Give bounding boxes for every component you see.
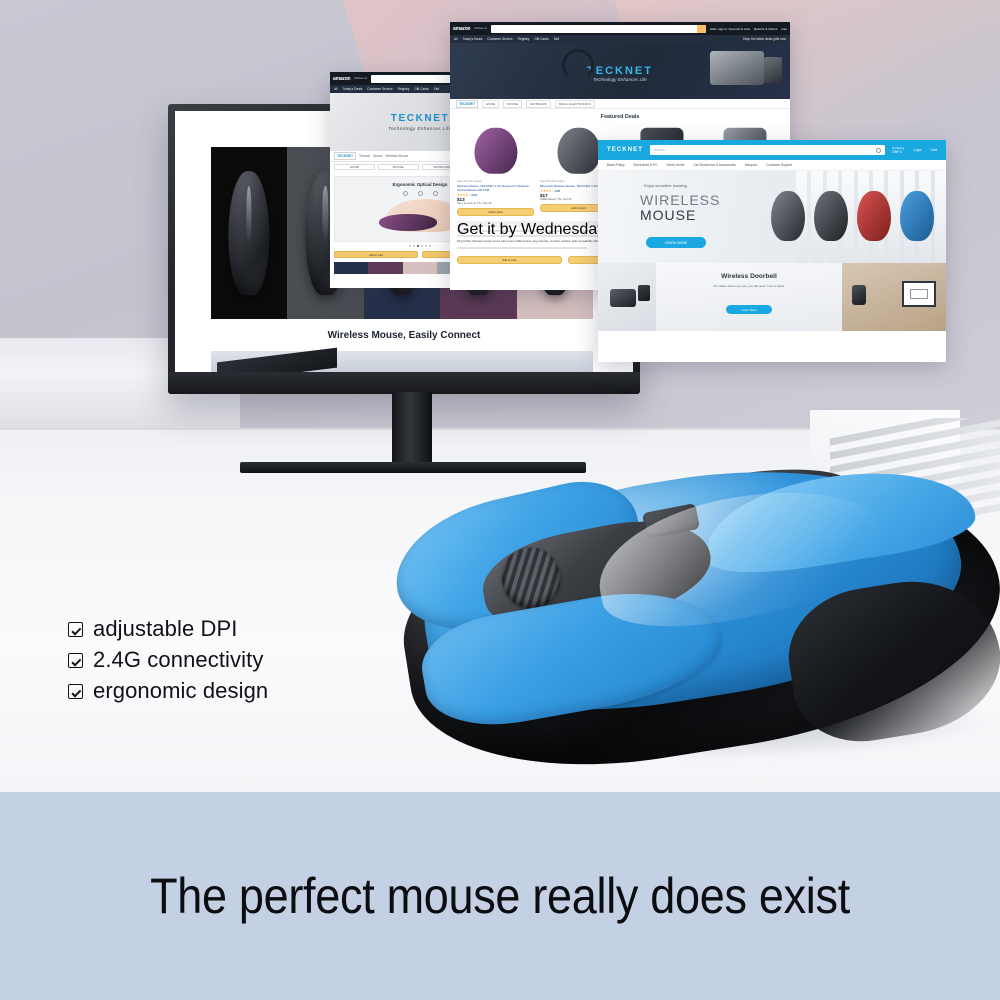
carousel-dot[interactable]: [413, 245, 415, 247]
hero-headline: WIRELESS MOUSE: [640, 193, 720, 222]
doorbell-title: Wireless Doorbell: [656, 273, 842, 280]
feature-label: adjustable DPI: [93, 616, 238, 642]
shipping-info: Get it as soon as Thu, Nov 25: [457, 202, 534, 205]
product-scene: Blue Wireless Mouse, Easily Connect amaz…: [0, 0, 1000, 792]
currency-label: Currency: [892, 146, 904, 150]
wireless-mouse-product: [386, 452, 1000, 782]
mouse-variant-blue: [900, 191, 934, 241]
checkbox-checked-icon: [68, 653, 83, 668]
mouse-icon: [418, 191, 423, 196]
hero-banner: Enjoy smoother tracking WIRELESS MOUSE L…: [598, 171, 946, 263]
brand-badge[interactable]: TECKNET: [456, 100, 478, 108]
tab-home[interactable]: HOME: [334, 164, 375, 170]
breadcrumb-item[interactable]: Wireless Mouse: [386, 154, 409, 158]
hero-headline-line2: MOUSE: [640, 208, 720, 223]
nav-promo-text[interactable]: Shop the latest deals gifts now: [743, 37, 786, 41]
feature-list: adjustable DPI 2.4G connectivity ergonom…: [68, 616, 398, 709]
breadcrumb-item[interactable]: Tecknet: [359, 154, 370, 158]
mouse-variant-black: [814, 191, 848, 241]
feature-label: ergonomic design: [93, 678, 268, 704]
doorbell-learn-more-button[interactable]: Learn More: [726, 305, 772, 314]
mouse-variant-grey: [771, 191, 805, 241]
site-nav[interactable]: Black Friday Electronics & PC Smart Home…: [598, 160, 946, 171]
nav-item[interactable]: Gift Cards: [534, 37, 548, 41]
coupon-label: Save 5% with coupon: [457, 180, 534, 183]
tecknet-tagline: Technology Enhances Life: [388, 126, 451, 131]
tecknet-brand-hero: TECKNET Technology Enhances Life: [450, 43, 790, 99]
nav-item-customer-support[interactable]: Customer Support: [766, 163, 792, 167]
amazon-logo[interactable]: amazon: [453, 26, 470, 32]
currency-value: GBP £: [892, 150, 902, 154]
product-image[interactable]: [457, 122, 534, 180]
tagline-text: The perfect mouse really does exist: [150, 867, 850, 925]
hero-headline-line1: WIRELESS: [640, 192, 720, 208]
nav-item-marques[interactable]: Marques: [745, 163, 757, 167]
browser-window-tecknet-site[interactable]: TECKNET Search... Currency GBP £ Login C…: [598, 140, 946, 362]
subnav-item[interactable]: KEYBOARD: [526, 100, 551, 108]
carousel-dot-active[interactable]: [417, 245, 419, 247]
amazon-logo[interactable]: amazon: [333, 76, 350, 82]
review-count[interactable]: 8,641: [471, 193, 477, 197]
deliver-to-label[interactable]: Deliver to: [474, 27, 487, 30]
subnav-item[interactable]: SMALL ELECTRONICS: [555, 100, 595, 108]
returns-link[interactable]: Returns & Orders: [754, 27, 777, 31]
search-icon[interactable]: [876, 148, 881, 153]
nav-item[interactable]: All: [334, 87, 338, 91]
amazon-search-input[interactable]: [491, 25, 706, 33]
swatch-navy[interactable]: [334, 262, 368, 274]
add-to-cart-button[interactable]: Add to Cart: [334, 251, 418, 258]
carousel-dot[interactable]: [421, 245, 423, 247]
tecknet-logo[interactable]: TECKNET: [607, 147, 643, 153]
tagline-band: The perfect mouse really does exist: [0, 792, 1000, 1000]
nav-item[interactable]: Today's Deals: [343, 87, 363, 91]
doorbell-left-image: [598, 263, 656, 331]
amazon-nav-bar[interactable]: All Today's Deals Customer Service Regis…: [450, 35, 790, 43]
search-placeholder: Search...: [654, 148, 668, 152]
doorbell-camera: [638, 285, 650, 301]
checkbox-checked-icon: [68, 622, 83, 637]
brand-badge[interactable]: TECKNET: [334, 152, 356, 160]
site-header: TECKNET Search... Currency GBP £ Login C…: [598, 140, 946, 160]
subnav-item[interactable]: MOUSE: [503, 100, 522, 108]
login-link[interactable]: Login: [913, 148, 921, 152]
cart-icon[interactable]: Cart: [781, 27, 787, 31]
nav-item[interactable]: Sell: [554, 37, 559, 41]
nav-item-electronics-pc[interactable]: Electronics & PC: [634, 163, 658, 167]
doorbell-right-image: [842, 263, 946, 331]
swatch-blush[interactable]: [403, 262, 437, 274]
wall-frame: [902, 281, 936, 307]
nav-item[interactable]: Customer Service: [367, 87, 392, 91]
nav-item-car-electronics[interactable]: Car Electronics & Accessories: [693, 163, 736, 167]
nav-item-smart-home[interactable]: Smart Home: [666, 163, 684, 167]
review-count[interactable]: 3,645: [554, 189, 560, 193]
product-card[interactable]: Save 5% with coupon Wireless Mouse, TECK…: [457, 122, 534, 216]
nav-item-black-friday[interactable]: Black Friday: [607, 163, 625, 167]
featured-deals-title: Featured Deals: [450, 114, 790, 120]
hero-mouse-lineup: [771, 191, 934, 241]
currency-selector[interactable]: Currency GBP £: [892, 146, 904, 154]
feature-item-adjustable-dpi: adjustable DPI: [68, 616, 398, 642]
feature-label: 2.4G connectivity: [93, 647, 263, 673]
product-name[interactable]: Wireless Mouse, TECKNET 2.4G Ergonomic W…: [457, 184, 534, 192]
hero-kicker: Enjoy smoother tracking: [644, 183, 687, 188]
feature-item-connectivity: 2.4G connectivity: [68, 647, 398, 673]
nav-item[interactable]: All: [454, 37, 458, 41]
search-input[interactable]: Search...: [650, 145, 885, 155]
amazon-account-links[interactable]: Hello, sign in / Account & Lists Returns…: [710, 27, 787, 31]
doorbell-copy: Wireless Doorbell No matter where you ar…: [656, 263, 842, 331]
nav-item[interactable]: Registry: [398, 87, 410, 91]
amazon-top-bar: amazon Deliver to Hello, sign in / Accou…: [450, 22, 790, 35]
doorbell-device: [610, 289, 636, 307]
slide-mouse-image: [379, 214, 437, 231]
carousel-dot[interactable]: [429, 245, 431, 247]
doorbell-wall-unit: [852, 285, 866, 305]
feature-item-ergonomic-design: ergonomic design: [68, 678, 398, 704]
nav-item[interactable]: Sell: [434, 87, 439, 91]
monitor-chin: [168, 372, 640, 394]
account-link[interactable]: Hello, sign in / Account & Lists: [710, 27, 750, 31]
monitor-lower-banner: [211, 351, 593, 372]
hero-learn-more-button[interactable]: LEARN MORE: [646, 237, 706, 248]
nav-item[interactable]: Registry: [518, 37, 530, 41]
search-icon[interactable]: [697, 25, 706, 33]
swatch-plum[interactable]: [368, 262, 402, 274]
nav-item[interactable]: Today's Deals: [463, 37, 483, 41]
tecknet-tagline: Technology Enhances Life: [450, 77, 790, 82]
add-to-cart-button[interactable]: Add to Cart: [457, 256, 562, 264]
tab-mouse[interactable]: MOUSE: [378, 164, 419, 170]
product-meta: Save 5% with coupon Wireless Mouse, TECK…: [457, 180, 534, 205]
nav-item[interactable]: Gift Cards: [414, 87, 428, 91]
tecknet-logo: TECKNET: [587, 65, 653, 77]
wireless-icon: [433, 191, 438, 196]
store-subnav[interactable]: TECKNET HOME MOUSE KEYBOARD SMALL ELECTR…: [450, 99, 790, 109]
doorbell-subtitle: No matter where you are, you will never …: [656, 284, 842, 288]
breadcrumb-item[interactable]: Mouse: [373, 154, 383, 158]
doorbell-banner: Wireless Doorbell No matter where you ar…: [598, 263, 946, 331]
subnav-item[interactable]: HOME: [482, 100, 499, 108]
nav-item[interactable]: Customer Service: [487, 37, 512, 41]
mouse-variant-red: [857, 191, 891, 241]
monitor-caption: Wireless Mouse, Easily Connect: [175, 330, 633, 341]
carousel-dot[interactable]: [425, 245, 427, 247]
carousel-dot[interactable]: [409, 245, 411, 247]
cart-link[interactable]: Cart: [931, 148, 937, 152]
gallery-panel: [211, 147, 287, 319]
add-to-cart-button[interactable]: Add to Cart: [457, 208, 534, 216]
dpi-icon: [403, 191, 408, 196]
deliver-to-label[interactable]: Deliver to: [354, 77, 367, 80]
header-meta: Currency GBP £ Login Cart: [892, 146, 937, 154]
tecknet-logo: TECKNET: [391, 113, 449, 124]
checkbox-checked-icon: [68, 684, 83, 699]
